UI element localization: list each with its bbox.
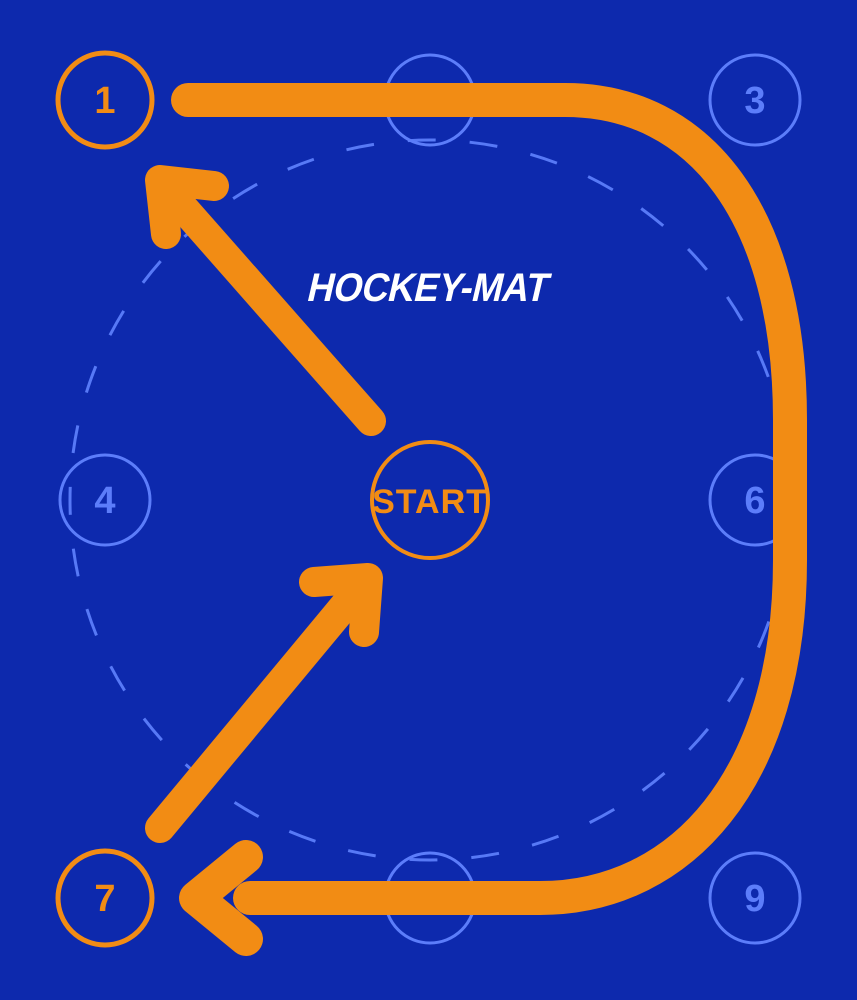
node-9-label: 9 bbox=[744, 878, 765, 920]
node-6-label: 6 bbox=[744, 480, 765, 522]
node-7-label: 7 bbox=[94, 878, 115, 920]
start-node[interactable]: START bbox=[372, 442, 488, 558]
start-node-label: START bbox=[372, 483, 488, 521]
node-4-label: 4 bbox=[94, 480, 115, 522]
node-1-label: 1 bbox=[94, 80, 115, 122]
drill-board-canvas: 2 3 4 6 8 9 bbox=[0, 0, 857, 1000]
hockey-mat-drill-diagram: 2 3 4 6 8 9 bbox=[0, 0, 857, 1000]
node-3-label: 3 bbox=[744, 80, 765, 122]
